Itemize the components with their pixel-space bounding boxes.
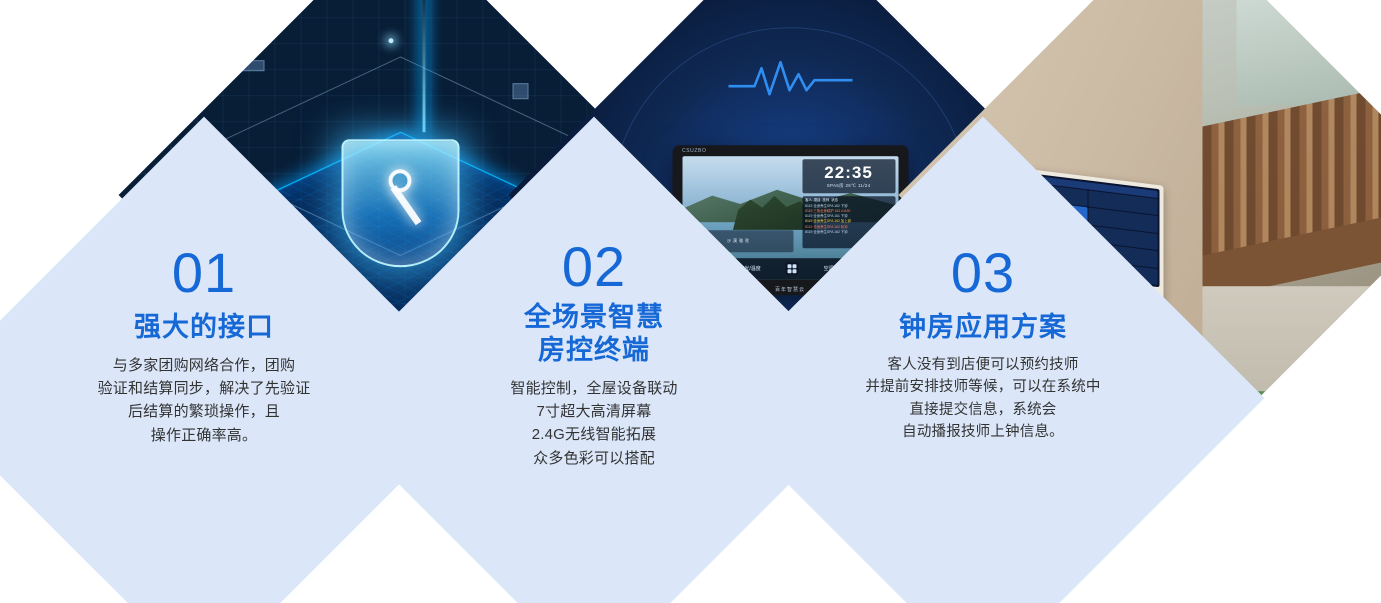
clock-status: SPA6房 26℃ 11/24: [827, 183, 871, 189]
card-number: 02: [562, 239, 626, 295]
card-body: 智能控制，全屋设备联动 7寸超大高清屏幕 2.4G无线智能拓展 众多色彩可以搭配: [510, 377, 677, 470]
card-body: 客人没有到店便可以预约技师 并提前安排技师等候，可以在系统中 直接提交信息，系统…: [865, 354, 1100, 444]
heartbeat-pulse-icon: [728, 61, 852, 101]
feature-card-3-content: 03 钟房应用方案 客人没有到店便可以预约技师 并提前安排技师等候，可以在系统中…: [784, 199, 1182, 597]
window-glass: [1236, 0, 1381, 106]
plant: [1323, 415, 1371, 455]
card-title: 钟房应用方案: [899, 311, 1067, 344]
feature-diamond-banner: CSUZBO 22:35 SPA6房 26℃ 11/24 客人 项目 技师 状态…: [0, 0, 1381, 603]
light-beam: [423, 0, 426, 132]
clock-time: 22:35: [824, 164, 872, 181]
clock-widget: 22:35 SPA6房 26℃ 11/24: [802, 159, 895, 193]
chip-block: [513, 83, 529, 99]
shield-lock-icon: [341, 139, 459, 267]
tablet-brand-label: CSUZBO: [682, 148, 706, 154]
home-grid-icon[interactable]: [786, 262, 799, 275]
chip-block: [242, 61, 264, 72]
card-number: 03: [951, 245, 1015, 301]
card-number: 01: [172, 245, 236, 301]
card-body: 与多家团购网络合作，团购 验证和结算同步，解决了先验证 后结算的繁琐操作，且 操…: [98, 354, 311, 447]
card-title: 强大的接口: [134, 311, 274, 344]
card-title: 全场景智慧 房控终端: [524, 301, 664, 367]
